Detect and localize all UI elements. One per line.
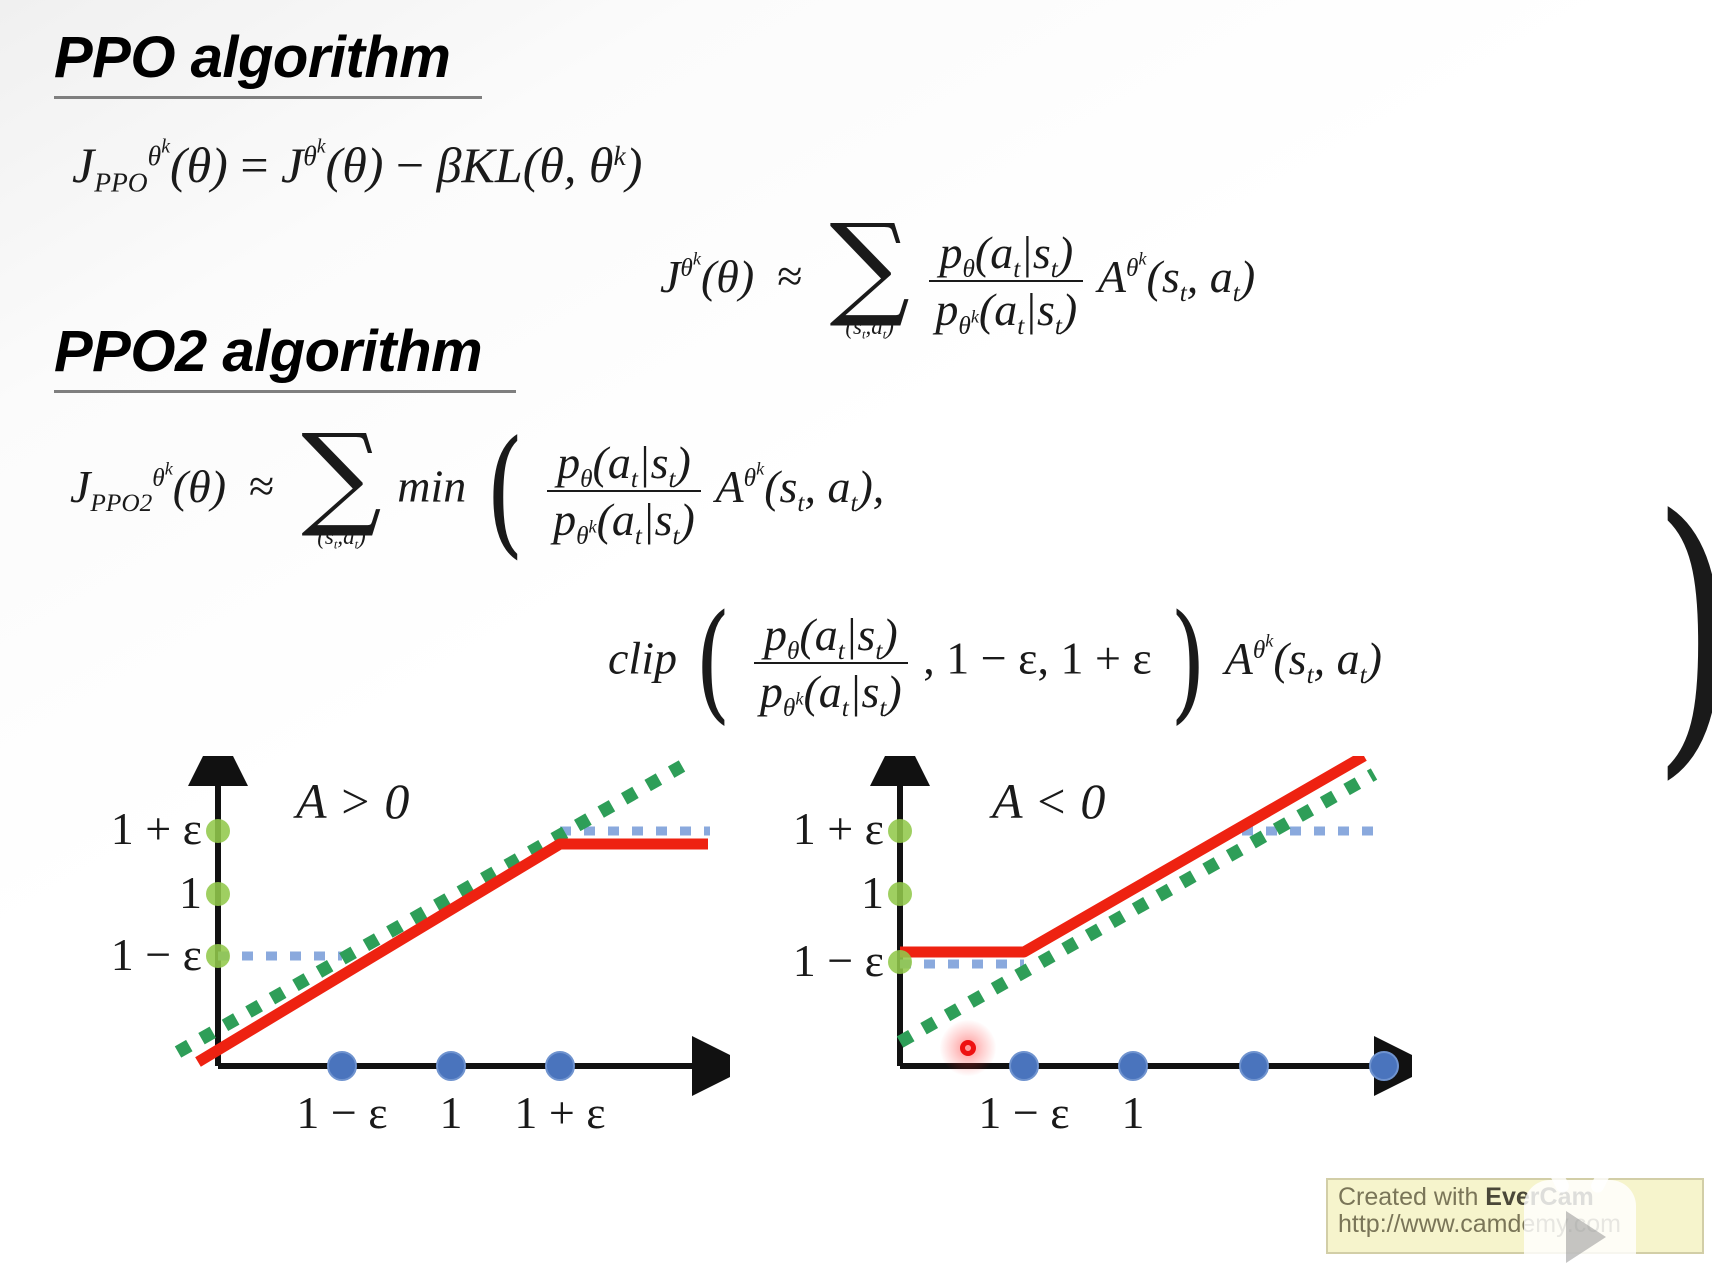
x-tick-marker-1-minus-eps <box>1009 1051 1039 1081</box>
chart-a-positive: 1 + ε 1 1 − ε 1 − ε 1 1 + ε A > 0 <box>70 756 730 1176</box>
condition-label-a-positive: A > 0 <box>296 772 409 830</box>
watermark-created-text: Created with <box>1338 1183 1485 1211</box>
identity-ratio-dotted <box>178 766 682 1052</box>
equation-ppo-objective: JPPOθk(θ) = Jθk(θ) − βKL(θ, θk) <box>72 136 642 194</box>
laser-pointer <box>940 1020 996 1076</box>
play-button-ear-right <box>1589 1153 1618 1195</box>
x-tick-marker-extra <box>1369 1051 1399 1081</box>
slide-canvas: PPO algorithm JPPOθk(θ) = Jθk(θ) − βKL(θ… <box>0 0 1712 1282</box>
y-tick-marker-1 <box>888 882 912 906</box>
equation-ppo-approx: Jθk(θ) ≈ ∑ (st,at) pθ(at|st) pθk(at|st) … <box>660 222 1255 340</box>
y-tick-marker-1-plus-eps <box>888 819 912 843</box>
x-tick-marker-1 <box>436 1051 466 1081</box>
y-tick-marker-1-plus-eps <box>206 819 230 843</box>
play-triangle-icon <box>1566 1211 1606 1263</box>
x-label-1-plus-eps: 1 + ε <box>490 1086 630 1139</box>
summation-symbol-ppo2: ∑ (st,at) <box>301 432 381 550</box>
equation-ppo2-clip: clip ( pθ(at|st) pθk(at|st) , 1 − ε, 1 +… <box>608 608 1382 718</box>
summation-symbol: ∑ (st,at) <box>829 222 909 340</box>
x-tick-marker-1 <box>1118 1051 1148 1081</box>
y-label-1-plus-eps: 1 + ε <box>752 802 884 855</box>
y-tick-marker-1-minus-eps <box>206 944 230 968</box>
x-label-1: 1 <box>1101 1086 1165 1139</box>
y-label-1-minus-eps: 1 − ε <box>70 928 202 981</box>
close-paren-min: ) <box>1636 556 1712 706</box>
y-label-1-plus-eps: 1 + ε <box>70 802 202 855</box>
y-label-1-minus-eps: 1 − ε <box>752 934 884 987</box>
identity-ratio-dotted <box>900 774 1374 1042</box>
watermark-line-1: Created with EverCam <box>1338 1184 1694 1211</box>
close-paren-clip: ) <box>1170 631 1206 695</box>
play-button-icon[interactable] <box>1524 1180 1636 1282</box>
x-tick-marker-1-minus-eps <box>327 1051 357 1081</box>
heading-ppo2-rule <box>54 390 516 393</box>
y-tick-marker-1-minus-eps <box>888 950 912 974</box>
x-label-1: 1 <box>419 1086 483 1139</box>
evercam-watermark: Created with EverCam http://www.camdemy.… <box>1326 1178 1704 1254</box>
watermark-line-2: http://www.camdemy.com <box>1338 1211 1694 1238</box>
heading-ppo-rule <box>54 96 482 99</box>
y-tick-marker-1 <box>206 882 230 906</box>
equation-ppo2-min: JPPO2θk(θ) ≈ ∑ (st,at) min ( pθ(at|st) p… <box>70 432 884 550</box>
x-tick-marker-1-plus-eps <box>545 1051 575 1081</box>
play-button-ear-left <box>1542 1153 1571 1195</box>
y-label-1: 1 <box>752 866 884 919</box>
x-label-1-minus-eps: 1 − ε <box>954 1086 1094 1139</box>
chart-a-negative: 1 + ε 1 1 − ε 1 − ε 1 A < 0 <box>752 756 1412 1176</box>
probability-ratio-fraction-3: pθ(at|st) pθk(at|st) <box>754 608 908 718</box>
open-paren-big: ( <box>485 457 524 526</box>
open-paren-clip: ( <box>695 631 731 695</box>
condition-label-a-negative: A < 0 <box>992 772 1105 830</box>
y-label-1: 1 <box>70 866 202 919</box>
heading-ppo: PPO algorithm <box>54 24 450 91</box>
x-label-1-minus-eps: 1 − ε <box>272 1086 412 1139</box>
x-tick-marker-1-plus-eps <box>1239 1051 1269 1081</box>
heading-ppo2: PPO2 algorithm <box>54 318 482 385</box>
clipped-objective-solid <box>900 756 1364 952</box>
probability-ratio-fraction-2: pθ(at|st) pθk(at|st) <box>547 436 701 546</box>
probability-ratio-fraction: pθ(at|st) pθk(at|st) <box>929 226 1083 336</box>
